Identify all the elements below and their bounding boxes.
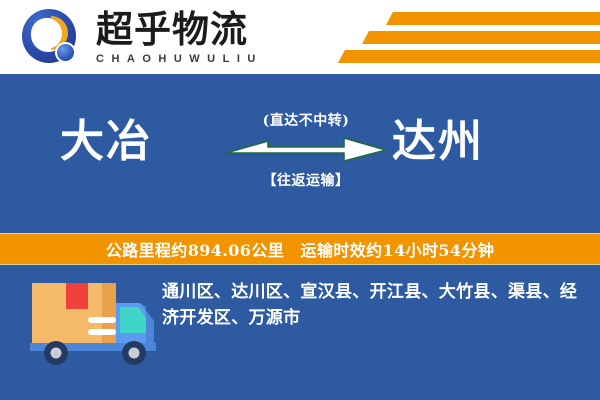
brand-block: 超乎物流 CHAOHUWULIU: [96, 8, 263, 66]
distance-duration-text: 公路里程约894.06公里 运输时效约14小时54分钟: [106, 237, 495, 261]
coverage-area-list: 通川区、达川区、宣汉县、开江县、大竹县、渠县、经济开发区、万源市: [162, 279, 582, 331]
header-stripe-decoration: [300, 8, 600, 68]
distance-duration-bar: 公路里程约894.06公里 运输时效约14小时54分钟: [0, 233, 600, 265]
origin-city: 大冶: [60, 116, 152, 168]
route-middle-block: (直达不中转) 【往返运输】: [222, 112, 390, 190]
poster-header: 超乎物流 CHAOHUWULIU: [0, 0, 600, 74]
logistics-route-poster: 超乎物流 CHAOHUWULIU 大冶 (直达不中转) 【往返运输】: [0, 0, 600, 400]
coverage-area-block: 通川区、达川区、宣汉县、开江县、大竹县、渠县、经济开发区、万源市: [162, 279, 582, 331]
brand-name-en: CHAOHUWULIU: [96, 52, 263, 66]
route-section: 大冶 (直达不中转) 【往返运输】 达州: [0, 74, 600, 233]
coverage-section: 通川区、达川区、宣汉县、开江县、大竹县、渠县、经济开发区、万源市: [0, 265, 600, 400]
direct-route-note: (直达不中转): [222, 112, 390, 130]
stripe-1: [386, 12, 600, 25]
stripe-3: [338, 50, 600, 63]
delivery-truck-icon: [28, 277, 166, 373]
double-headed-arrow-icon: [222, 134, 390, 164]
main-blue-panel: 大冶 (直达不中转) 【往返运输】 达州 公路里程约894.06公里 运输时效约…: [0, 74, 600, 400]
stripe-2: [362, 31, 600, 44]
roundtrip-note: 【往返运输】: [222, 172, 390, 190]
circle-crescent-logo-icon: [22, 9, 80, 67]
destination-city: 达州: [392, 116, 484, 168]
brand-name-cn: 超乎物流: [96, 8, 263, 50]
logo-accent-dot: [55, 42, 76, 63]
